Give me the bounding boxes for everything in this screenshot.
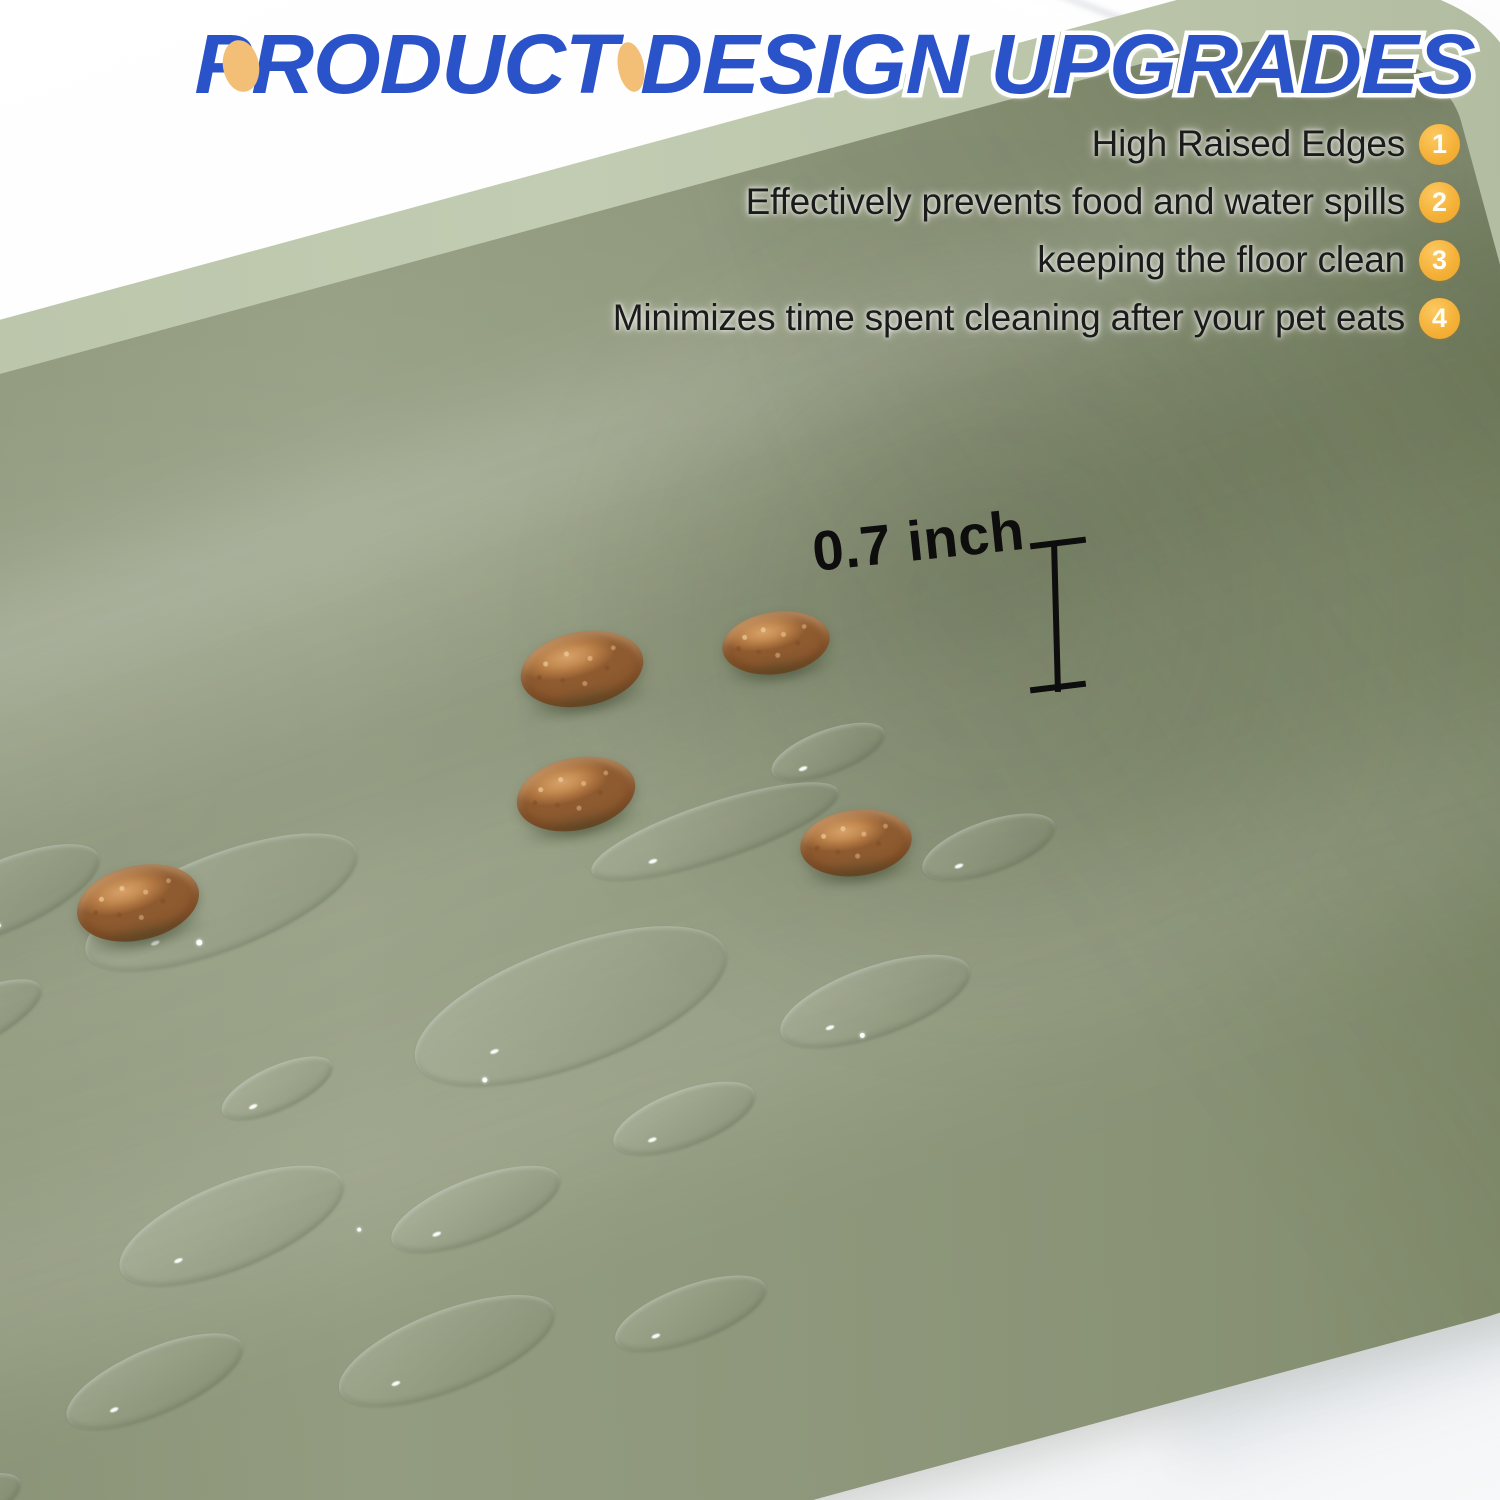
feature-row: Effectively prevents food and water spil… bbox=[560, 176, 1460, 228]
pet-feeding-tray bbox=[0, 150, 1500, 1500]
water-bead bbox=[104, 1141, 359, 1311]
water-bead bbox=[325, 1272, 568, 1430]
feature-row: keeping the floor clean 3 bbox=[560, 234, 1460, 286]
feature-number-badge: 4 bbox=[1419, 298, 1460, 339]
water-bead bbox=[0, 962, 53, 1083]
feature-number-badge: 2 bbox=[1419, 182, 1460, 223]
dimension-vertical-line bbox=[1051, 542, 1061, 692]
feature-text: Effectively prevents food and water spil… bbox=[746, 181, 1405, 223]
feature-text: Minimizes time spent cleaning after your… bbox=[613, 297, 1405, 339]
feature-text: High Raised Edges bbox=[1092, 123, 1405, 165]
feature-row: High Raised Edges 1 bbox=[560, 118, 1460, 170]
water-specular-highlight bbox=[357, 1227, 362, 1232]
page-title-text: PRODUCT DESIGN UPGRADES bbox=[194, 17, 1474, 111]
feature-text: keeping the floor clean bbox=[1037, 239, 1405, 281]
water-bead bbox=[606, 1260, 775, 1368]
water-bead bbox=[55, 1314, 256, 1450]
water-bead bbox=[604, 1066, 764, 1170]
feature-row: Minimizes time spent cleaning after your… bbox=[560, 292, 1460, 344]
product-marketing-image: 0.7 inch PRODUCT DESIGN UPGRADES High Ra… bbox=[0, 0, 1500, 1500]
feature-number-badge: 3 bbox=[1419, 240, 1460, 281]
water-bead bbox=[0, 1458, 30, 1500]
page-title: PRODUCT DESIGN UPGRADES bbox=[138, 18, 1500, 110]
dimension-cap-top bbox=[1030, 537, 1086, 550]
feature-number-badge: 1 bbox=[1419, 124, 1460, 165]
feature-list: High Raised Edges 1 Effectively prevents… bbox=[560, 118, 1460, 350]
water-bead bbox=[381, 1148, 571, 1271]
water-bead bbox=[213, 1044, 340, 1133]
dimension-marker-icon bbox=[1034, 534, 1080, 696]
